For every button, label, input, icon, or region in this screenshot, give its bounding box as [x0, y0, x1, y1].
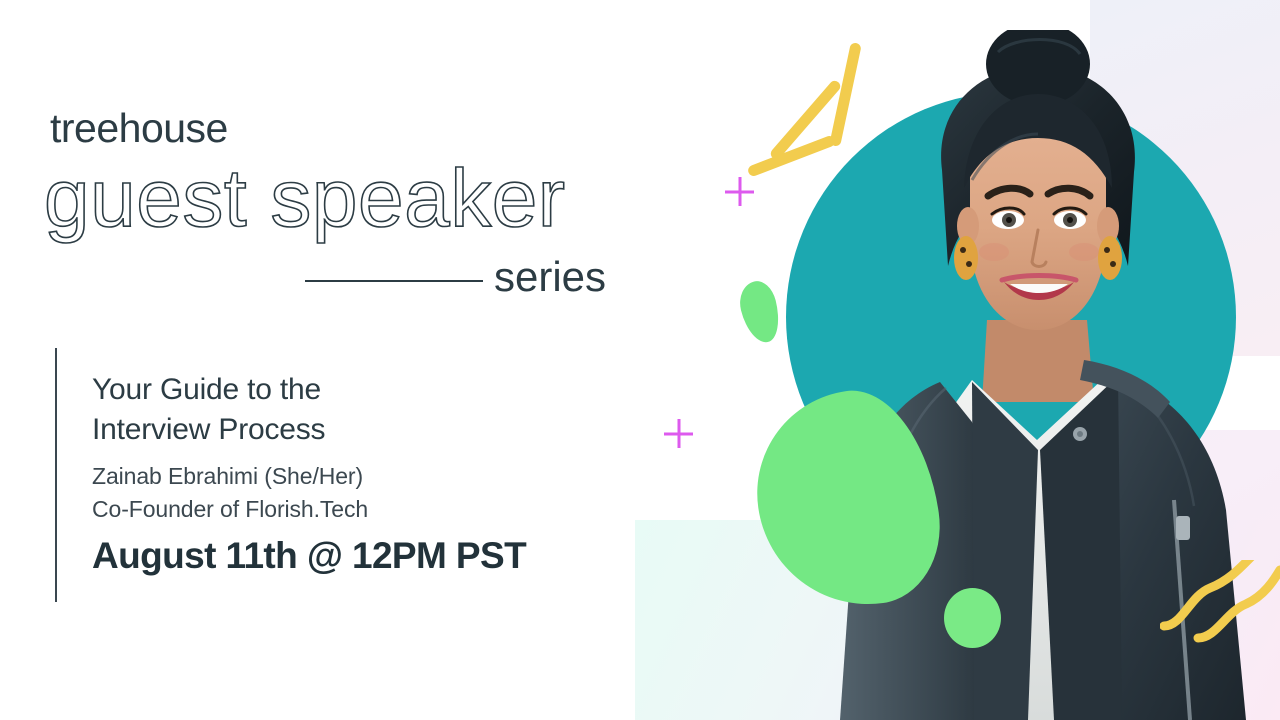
- event-datetime: August 11th @ 12PM PST: [92, 535, 526, 578]
- speaker-details: Zainab Ebrahimi (She/Her) Co-Founder of …: [92, 460, 368, 526]
- green-blob-dot: [944, 588, 1001, 648]
- series-divider-rule: [305, 280, 483, 282]
- speaker-name: Zainab Ebrahimi (She/Her): [92, 460, 368, 493]
- content-vertical-rule: [55, 348, 57, 602]
- brand-wordmark: treehouse: [50, 108, 228, 149]
- talk-title-line-2: Interview Process: [92, 410, 325, 450]
- plus-mark-icon: [725, 177, 754, 206]
- green-blob-small: [735, 278, 785, 347]
- promo-slide: treehouse guest speaker series Your Guid…: [0, 0, 1280, 720]
- talk-title: Your Guide to the Interview Process: [92, 370, 325, 449]
- talk-title-line-1: Your Guide to the: [92, 370, 325, 410]
- series-label: series: [494, 256, 606, 298]
- plus-mark-icon: [664, 419, 693, 448]
- headline-outline-text: guest speaker: [44, 158, 566, 240]
- speaker-role: Co-Founder of Florish.Tech: [92, 493, 368, 526]
- wave-lines-icon: [1160, 560, 1280, 670]
